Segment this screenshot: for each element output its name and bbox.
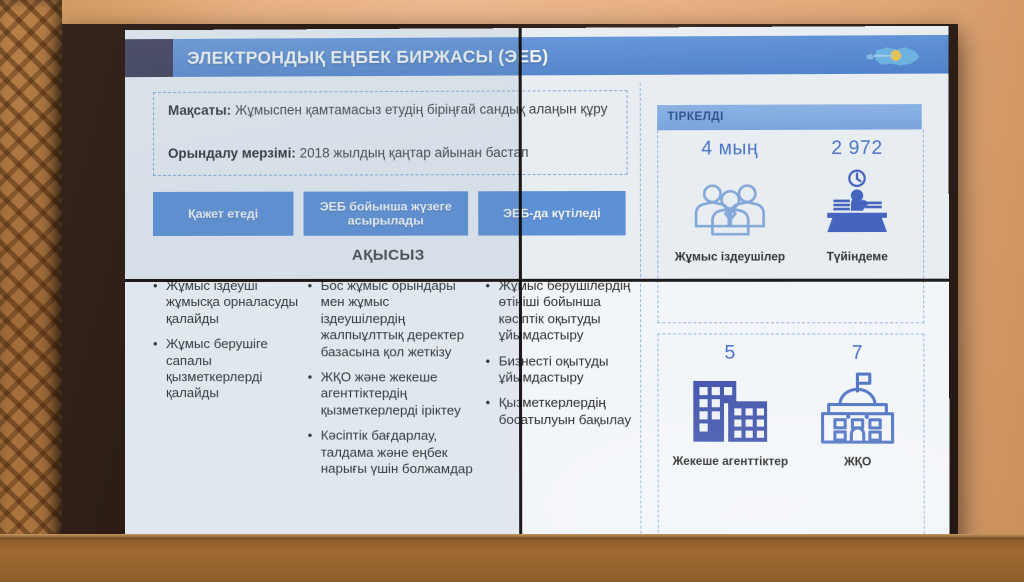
people-group-icon [666,162,793,247]
list-item: Жұмыс іздеуші жұмысқа орналасуды қалайды [166,278,302,327]
deadline-row: Орындалу мерзімі: 2018 жылдың қаңтар айы… [168,144,616,163]
kazakhstan-map-icon [862,41,926,72]
bullet-columns: Жұмыс іздеуші жұмысқа орналасуды қалайды… [139,278,645,566]
video-wall-seam-horizontal [125,279,949,282]
desk-clock-icon [793,162,921,247]
chip-implemented[interactable]: ЭЕБ бойынша жүзеге асырылады [304,191,469,235]
bullet-column-2: Бос жұмыс орындары мен жұмыс іздеушілерд… [306,278,478,487]
office-buildings-icon [667,367,794,452]
stat-value: 2 972 [793,138,921,161]
presentation-slide: ЭЛЕКТРОНДЫҚ ЕҢБЕК БИРЖАСЫ (ЭЕБ) Мақсаты:… [125,26,950,574]
stat-resumes: 2 972 [793,138,921,264]
list-item: Кәсіптік бағдарлау, талдама және еңбек н… [321,428,478,478]
page-title: ЭЛЕКТРОНДЫҚ ЕҢБЕК БИРЖАСЫ (ЭЕБ) [187,37,548,77]
list-item: Жұмыс берушіге сапалы қызметкерлерді қал… [166,336,302,402]
list-item: Бос жұмыс орындары мен жұмыс іздеушілерд… [321,278,478,361]
video-wall-seam-vertical [519,28,523,571]
room-scene: ЭЛЕКТРОНДЫҚ ЕҢБЕК БИРЖАСЫ (ЭЕБ) Мақсаты:… [0,0,1024,582]
stat-value: 7 [794,343,922,365]
stat-label: Жұмыс іздеушілер [667,250,794,264]
registered-label: ТІРКЕЛДІ [667,105,724,130]
statistics-panel: ТІРКЕЛДІ 4 мың [640,82,940,566]
bullet-column-1: Жұмыс іздеуші жұмысқа орналасуды қалайды… [151,278,302,411]
video-wall-screen: ЭЛЕКТРОНДЫҚ ЕҢБЕК БИРЖАСЫ (ЭЕБ) Мақсаты:… [125,26,950,574]
stats-group-bottom: 5 [657,333,924,559]
goal-box: Мақсаты: Жұмыспен қамтамасыз етудің бірі… [153,90,628,176]
goal-label: Мақсаты: [168,103,231,118]
stat-jobseekers: 4 мың [666,138,793,264]
free-label: АҚЫСЫЗ [153,246,626,263]
title-accent-block [125,39,173,77]
chip-expected[interactable]: ЭЕБ-да күтіледі [478,191,625,236]
deadline-label: Орындалу мерзімі: [168,146,296,161]
stats-group-top: 4 мың [657,129,924,323]
stat-label: Жекеше агенттіктер [667,455,794,469]
stat-value: 4 мың [666,138,793,161]
deadline-text: 2018 жылдың қаңтар айынан бастап [300,145,529,161]
goal-row: Мақсаты: Жұмыспен қамтамасыз етудің бірі… [168,100,616,119]
wooden-lattice-wall [0,0,62,582]
stat-label: ЖҚО [794,455,922,469]
chip-required[interactable]: Қажет етеді [153,192,293,236]
stat-label: Түйіндеме [793,250,921,264]
slide-title-bar: ЭЛЕКТРОНДЫҚ ЕҢБЕК БИРЖАСЫ (ЭЕБ) [125,35,948,77]
list-item: ЖҚО және жекеше агенттіктердің қызметкер… [321,369,478,419]
goal-text: Жұмыспен қамтамасыз етудің біріңғай санд… [235,101,608,117]
stat-private-agencies: 5 [667,342,794,468]
registered-bar: ТІРКЕЛДІ [657,104,922,130]
bullet-column-3: Жұмыс берушілердің өтініші бойынша кәсіп… [483,278,644,438]
government-building-icon [794,367,922,453]
lower-wall-band [0,534,1024,582]
stat-employment-centers: 7 [794,343,922,470]
stat-value: 5 [667,342,794,364]
